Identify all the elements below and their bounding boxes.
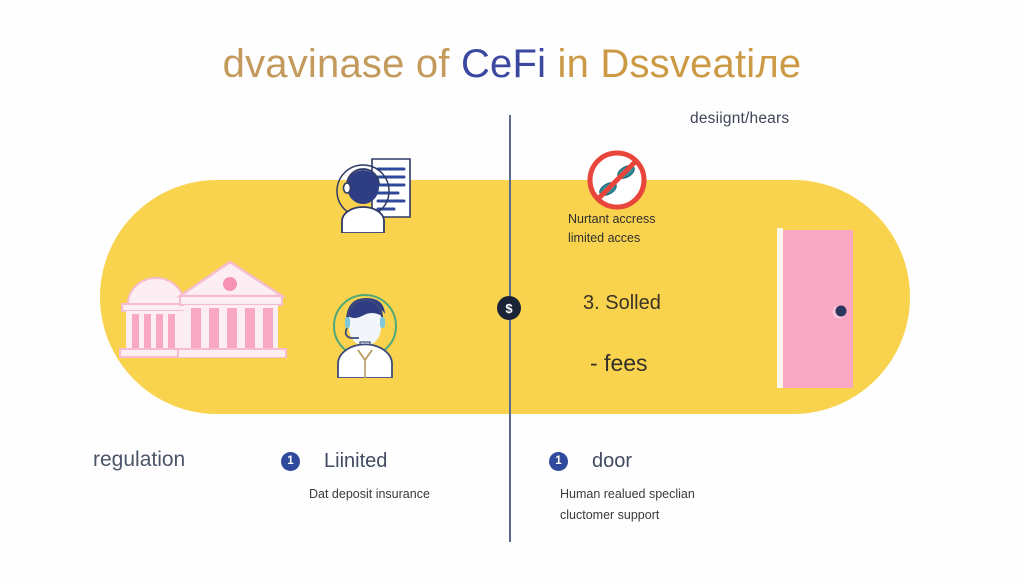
numbered-item-door: 1 door <box>549 450 632 473</box>
numbered-item-limited: 1 Liinited <box>281 450 387 473</box>
dollar-badge: $ <box>497 296 521 320</box>
bank-buildings-icon <box>118 248 290 358</box>
number-badge-1-right: 1 <box>549 452 568 471</box>
number-badge-1: 1 <box>281 452 300 471</box>
subtext-customer-support-line1: Human realued speclian <box>560 484 790 505</box>
no-access-label: Nurtant accress limited acces <box>568 210 748 248</box>
subtext-customer-support: Human realued speclian cluctomer support <box>560 484 790 526</box>
numbered-item-door-label: door <box>592 450 632 473</box>
no-access-label-line1: Nurtant accress <box>568 210 748 229</box>
subtext-deposit-insurance-line1: Dat deposit insurance <box>309 484 539 505</box>
regulation-label: regulation <box>93 448 185 472</box>
fees-label: - fees <box>590 350 648 377</box>
headset-support-agent-icon <box>324 282 406 378</box>
subtext-deposit-insurance: Dat deposit insurance <box>309 484 539 505</box>
infographic-canvas: dvavinase of CeFi in Dssveatiле desiignt… <box>0 0 1024 585</box>
numbered-item-limited-label: Liinited <box>324 450 387 473</box>
center-divider-line <box>509 115 511 542</box>
no-access-label-line2: limited acces <box>568 229 748 248</box>
top-right-caption: desiignt/hears <box>690 110 789 128</box>
page-title-part-3: in Dssveatiле <box>546 42 801 86</box>
page-title-part-1: dvavinase of <box>223 42 461 86</box>
no-access-prohibition-icon <box>585 148 649 212</box>
person-with-document-icon <box>330 155 416 233</box>
page-title: dvavinase of CeFi in Dssveatiле <box>0 42 1024 87</box>
solled-label: 3. Solled <box>583 292 661 315</box>
page-title-highlight-cefi: CeFi <box>461 42 546 86</box>
subtext-customer-support-line2: cluctomer support <box>560 505 790 526</box>
pink-door-icon <box>773 228 865 388</box>
